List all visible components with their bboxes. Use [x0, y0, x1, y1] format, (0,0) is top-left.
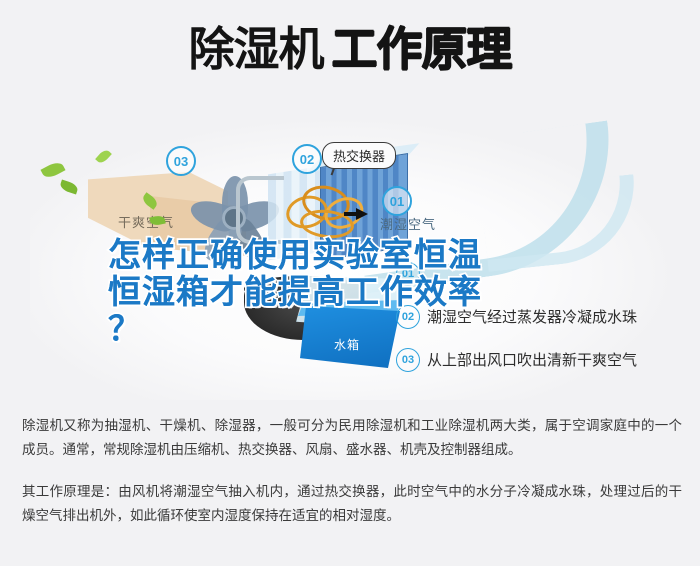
page-title-light: 除湿机	[189, 23, 324, 75]
refrigerant-pipe-icon	[236, 176, 284, 244]
page-root: 除湿机工作原理 干爽空气	[0, 0, 700, 566]
page-title: 除湿机工作原理	[0, 26, 700, 72]
body-text-block: 除湿机又称为抽湿机、干燥机、除湿器，一般可分为民用除湿机和工业除湿机两大类，属于…	[22, 414, 682, 546]
legend-number: 01	[396, 262, 420, 286]
humid-air-label: 潮湿空气	[380, 214, 436, 233]
diagram-marker-03: 03	[166, 146, 196, 176]
legend-item-03: 03 从上部出风口吹出清新干爽空气	[396, 338, 696, 381]
diagram-marker-02: 02	[292, 144, 322, 174]
body-paragraph-2: 其工作原理是：由风机将潮湿空气抽入机内，通过热交换器，此时空气中的水分子冷凝成水…	[22, 480, 682, 528]
dry-air-label: 干爽空气	[118, 212, 174, 231]
page-title-heavy: 工作原理	[332, 23, 512, 75]
legend-item-02: 02 潮湿空气经过蒸发器冷凝成水珠	[396, 295, 696, 338]
leaf-icon	[40, 160, 65, 181]
leaf-icon	[95, 148, 112, 165]
heat-exchanger-callout: 热交换器	[322, 142, 396, 169]
water-tank-label: 水箱	[334, 336, 360, 353]
diagram-marker-01: 01	[382, 186, 412, 216]
legend-item-01: 01	[396, 252, 696, 295]
leaf-icon	[59, 179, 79, 194]
flow-arrow-head-icon	[356, 208, 368, 220]
legend-number: 03	[396, 348, 420, 372]
hero-illustration: 除湿机工作原理 干爽空气	[0, 0, 700, 410]
legend-label: 从上部出风口吹出清新干爽空气	[427, 349, 637, 370]
body-paragraph-1: 除湿机又称为抽湿机、干燥机、除湿器，一般可分为民用除湿机和工业除湿机两大类，属于…	[22, 414, 682, 462]
legend-number: 02	[396, 305, 420, 329]
legend-list: 01 02 潮湿空气经过蒸发器冷凝成水珠 03 从上部出风口吹出清新干爽空气	[396, 252, 696, 381]
legend-label: 潮湿空气经过蒸发器冷凝成水珠	[427, 306, 637, 327]
